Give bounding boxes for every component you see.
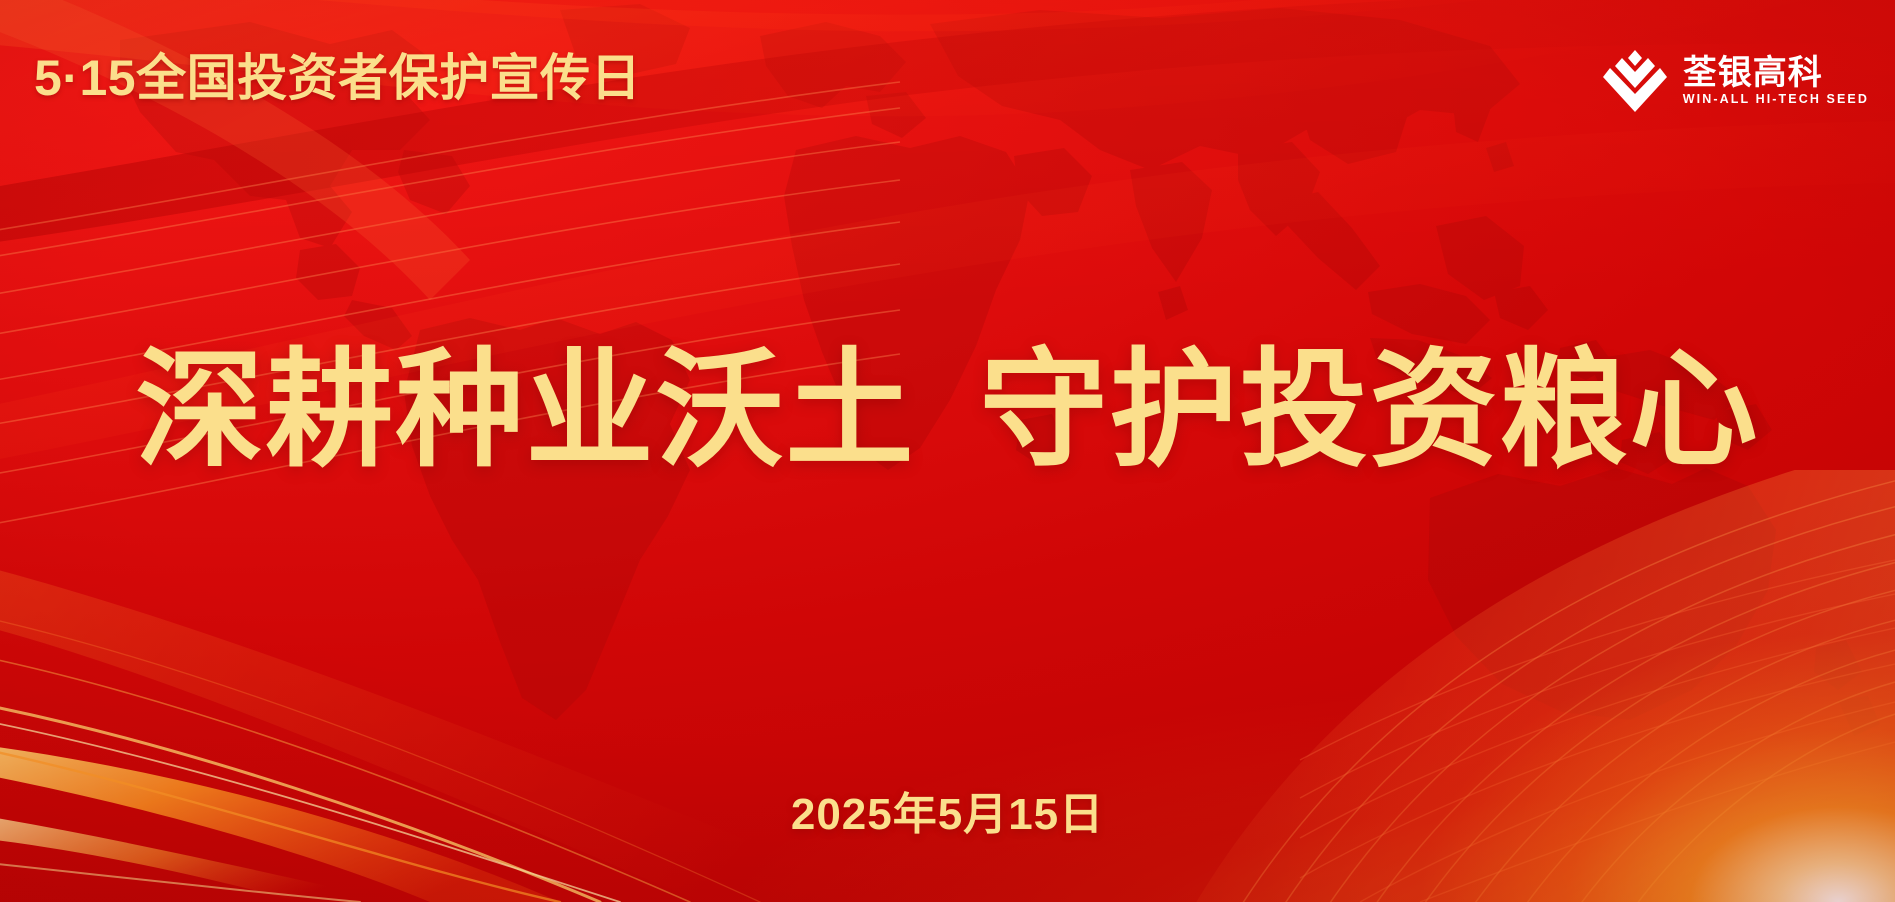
investor-protection-day-poster: 5·15全国投资者保护宣传日 荃银高科 WIN-ALL HI-TECH SEED… xyxy=(0,0,1895,902)
horizontal-light-streak xyxy=(0,695,1895,709)
win-all-chevron-logo-icon xyxy=(1603,50,1667,112)
event-date: 2025年5月15日 xyxy=(0,793,1895,837)
event-kicker-text: 5·15全国投资者保护宣传日 xyxy=(34,53,641,103)
page-title: 深耕种业沃土守护投资粮心 xyxy=(0,338,1895,484)
company-name-cn: 荃银高科 xyxy=(1683,56,1869,90)
title-part-1: 深耕种业沃土 xyxy=(135,339,915,482)
title-part-2: 守护投资粮心 xyxy=(980,339,1760,482)
company-logo: 荃银高科 WIN-ALL HI-TECH SEED xyxy=(1603,48,1869,114)
company-name-block: 荃银高科 WIN-ALL HI-TECH SEED xyxy=(1683,56,1869,106)
company-name-en: WIN-ALL HI-TECH SEED xyxy=(1683,93,1869,106)
